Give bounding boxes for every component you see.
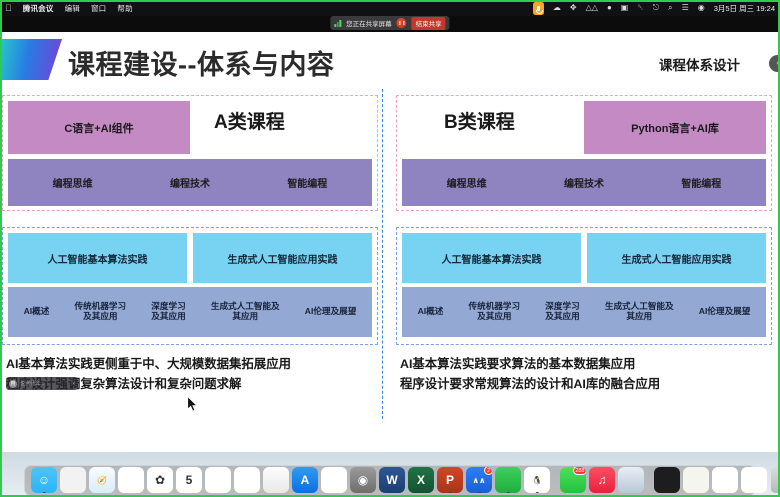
appstore-alt-icon[interactable]	[263, 467, 289, 493]
display-icon[interactable]: ▣	[621, 4, 629, 12]
ai-practice-row-b: 人工智能基本算法实践 生成式人工智能应用实践	[402, 233, 766, 283]
calendar-icon-glyph: 5	[186, 473, 193, 487]
dock: ☺🧭✿5A◉WXP∧∧2🐧288♫	[24, 465, 756, 496]
bluetooth-icon[interactable]: ✥	[570, 4, 577, 12]
powerpoint-icon-glyph: P	[446, 473, 454, 487]
running-indicator	[507, 492, 510, 494]
photos-icon[interactable]: ✿	[147, 467, 173, 493]
language-chip-b: Python语言+AI库	[584, 101, 766, 154]
vpn-icon[interactable]: △△	[586, 4, 598, 12]
app-store-icon-glyph: A	[301, 473, 310, 487]
share-status-text: 您正在共享屏幕	[346, 18, 392, 28]
course-column-a: C语言+AI组件 A类课程 编程思维 编程技术 智能编程 人工智能基本算法实践 …	[2, 87, 384, 427]
ai-module-b-1: AI概述	[418, 307, 444, 317]
photos-icon-glyph: ✿	[155, 473, 165, 487]
qq-icon-glyph: 🐧	[532, 476, 542, 485]
tencent-meeting-icon[interactable]: ∧∧2	[466, 467, 492, 493]
badge-count: 2	[484, 467, 492, 475]
ai-practice-a-2: 生成式人工智能应用实践	[193, 233, 372, 283]
siri-icon[interactable]: ◉	[698, 4, 705, 12]
system-settings-icon-glyph: ◉	[358, 473, 368, 487]
ai-module-b-5: AI伦理及展望	[699, 307, 751, 317]
tencent-meeting-icon-glyph: ∧∧	[473, 476, 486, 485]
finder-icon-glyph: ☺	[38, 473, 50, 487]
title-accent-shape	[0, 39, 62, 80]
mic-icon[interactable]	[533, 2, 544, 15]
note-a-1: AI基本算法实践更侧重于中、大规模数据集拓展应用	[6, 355, 386, 375]
pause-share-button[interactable]	[397, 18, 407, 28]
macos-menu-bar:  腾讯会议 编辑 窗口 帮助 ☁ ✥ △△ ● ▣ ␡ ⎋ ⌕ ☰ ◉ 3月5…	[0, 0, 780, 16]
desktop-dock-area: ☺🧭✿5A◉WXP∧∧2🐧288♫	[0, 452, 780, 497]
ai-modules-row-a: AI概述 传统机器学习 及其应用 深度学习 及其应用 生成式人工智能及 其应用 …	[8, 287, 372, 337]
running-indicator	[43, 492, 46, 494]
ai-group-a: 人工智能基本算法实践 生成式人工智能应用实践 AI概述 传统机器学习 及其应用 …	[2, 227, 378, 345]
wifi-icon[interactable]: ⎋	[653, 4, 659, 12]
collapse-toggle-icon[interactable]: ‹	[769, 55, 780, 72]
slide-subtitle: 课程体系设计	[659, 54, 740, 74]
chrome-icon[interactable]	[118, 467, 144, 493]
end-share-button[interactable]: 结束共享	[412, 17, 446, 30]
calculator-icon[interactable]	[321, 467, 347, 493]
safari-icon-glyph: 🧭	[97, 476, 107, 485]
slide-body: C语言+AI组件 A类课程 编程思维 编程技术 智能编程 人工智能基本算法实践 …	[0, 87, 780, 452]
system-settings-icon[interactable]: ◉	[350, 467, 376, 493]
calendar-icon[interactable]: 5	[176, 467, 202, 493]
wechat-icon[interactable]	[495, 467, 521, 493]
screen-share-indicator: 您正在共享屏幕 结束共享	[330, 16, 449, 30]
ai-module-a-5: AI伦理及展望	[305, 307, 357, 317]
keyboard-icon[interactable]: ␡	[637, 4, 643, 12]
skill-bar-a: 编程思维 编程技术 智能编程	[8, 159, 372, 206]
qq-icon[interactable]: 🐧	[524, 467, 550, 493]
excel-icon-glyph: X	[417, 473, 425, 487]
meeting-chat-widget[interactable]: 用 说点什么... ‹	[6, 377, 78, 390]
menu-bar-clock[interactable]: 3月5日 周三 19:24	[714, 3, 775, 14]
course-column-b: Python语言+AI库 B类课程 编程思维 编程技术 智能编程 人工智能基本算…	[396, 87, 778, 427]
document-window-icon[interactable]	[683, 467, 709, 493]
music-icon-glyph: ♫	[598, 473, 607, 487]
chevron-left-icon[interactable]: ‹	[73, 381, 75, 387]
running-indicator	[449, 492, 452, 494]
skill-b-3: 智能编程	[681, 175, 721, 190]
trash-icon[interactable]	[770, 467, 780, 493]
skill-a-3: 智能编程	[287, 175, 327, 190]
mouse-cursor	[187, 396, 198, 412]
running-indicator	[536, 492, 539, 494]
search-icon[interactable]: ⌕	[668, 4, 672, 12]
note-b-2: 程序设计要求常规算法的设计和AI库的融合应用	[400, 375, 780, 395]
skill-a-2: 编程技术	[170, 175, 210, 190]
powerpoint-icon[interactable]: P	[437, 467, 463, 493]
note-b-1: AI基本算法实践要求算法的基本数据集应用	[400, 355, 780, 375]
skill-b-2: 编程技术	[564, 175, 604, 190]
browser-window-icon[interactable]	[712, 467, 738, 493]
ai-module-a-4: 生成式人工智能及 其应用	[211, 302, 280, 321]
menu-item-help[interactable]: 帮助	[117, 3, 132, 14]
chat-input-placeholder[interactable]: 说点什么...	[20, 380, 70, 387]
ai-group-b: 人工智能基本算法实践 生成式人工智能应用实践 AI概述 传统机器学习 及其应用 …	[396, 227, 772, 345]
menu-item-app-name[interactable]: 腾讯会议	[23, 3, 54, 14]
excel-icon[interactable]: X	[408, 467, 434, 493]
menu-item-edit[interactable]: 编辑	[65, 3, 80, 14]
menu-bar-status-tray: ☁ ✥ △△ ● ▣ ␡ ⎋ ⌕ ☰ ◉ 3月5日 周三 19:24	[533, 2, 775, 15]
ai-module-a-2: 传统机器学习 及其应用	[75, 302, 127, 321]
skill-b-1: 编程思维	[447, 175, 487, 190]
slide-header: 课程建设--体系与内容 课程体系设计 ‹	[0, 32, 780, 87]
language-group-a: C语言+AI组件 A类课程 编程思维 编程技术 智能编程	[2, 95, 378, 211]
ai-module-b-4: 生成式人工智能及 其应用	[605, 302, 674, 321]
badge-count: 288	[573, 467, 586, 475]
music-icon[interactable]: ♫	[589, 467, 615, 493]
language-group-b: Python语言+AI库 B类课程 编程思维 编程技术 智能编程	[396, 95, 772, 211]
trash-bin	[771, 467, 780, 493]
app-store-icon[interactable]: A	[292, 467, 318, 493]
menu-bar-left:  腾讯会议 编辑 窗口 帮助	[5, 3, 133, 14]
shared-slide: 课程建设--体系与内容 课程体系设计 ‹ C语言+AI组件 A类课程 编程思维 …	[0, 32, 780, 452]
ai-modules-row-b: AI概述 传统机器学习 及其应用 深度学习 及其应用 生成式人工智能及 其应用 …	[402, 287, 766, 337]
finder-icon[interactable]: ☺	[31, 467, 57, 493]
keynote-window-icon[interactable]	[741, 467, 767, 493]
ai-practice-a-1: 人工智能基本算法实践	[8, 233, 187, 283]
skill-a-1: 编程思维	[53, 175, 93, 190]
ai-practice-b-1: 人工智能基本算法实践	[402, 233, 581, 283]
ai-module-a-1: AI概述	[24, 307, 50, 317]
running-indicator	[478, 492, 481, 494]
page-title: 课程建设--体系与内容	[68, 43, 334, 82]
screen:  腾讯会议 编辑 窗口 帮助 ☁ ✥ △△ ● ▣ ␡ ⎋ ⌕ ☰ ◉ 3月5…	[0, 0, 780, 497]
ai-practice-b-2: 生成式人工智能应用实践	[587, 233, 766, 283]
ai-module-a-3: 深度学习 及其应用	[151, 302, 185, 321]
ai-practice-row-a: 人工智能基本算法实践 生成式人工智能应用实践	[8, 233, 372, 283]
skill-bar-b: 编程思维 编程技术 智能编程	[402, 159, 766, 206]
word-icon[interactable]: W	[379, 467, 405, 493]
ai-module-b-2: 传统机器学习 及其应用	[469, 302, 521, 321]
language-chip-a: C语言+AI组件	[8, 101, 190, 154]
user-icon[interactable]: ●	[607, 4, 612, 12]
terminal-window-icon[interactable]	[654, 467, 680, 493]
avatar: 用	[9, 380, 17, 388]
reminders-icon[interactable]	[205, 467, 231, 493]
cloud-icon[interactable]: ☁	[553, 4, 561, 12]
messages-icon[interactable]: 288	[560, 467, 586, 493]
notes-icon[interactable]	[234, 467, 260, 493]
menu-item-window[interactable]: 窗口	[91, 3, 106, 14]
word-icon-glyph: W	[386, 473, 397, 487]
safari-icon[interactable]: 🧭	[89, 467, 115, 493]
category-label-b: B类课程	[444, 107, 515, 134]
control-center-icon[interactable]: ☰	[682, 4, 689, 12]
screenshot-icon[interactable]	[618, 467, 644, 493]
launchpad-icon[interactable]	[60, 467, 86, 493]
signal-bars-icon	[334, 20, 341, 27]
category-label-a: A类课程	[214, 107, 285, 134]
apple-logo-icon[interactable]: 	[5, 4, 12, 13]
notes-b: AI基本算法实践要求算法的基本数据集应用 程序设计要求常规算法的设计和AI库的融…	[400, 355, 780, 395]
ai-module-b-3: 深度学习 及其应用	[545, 302, 579, 321]
